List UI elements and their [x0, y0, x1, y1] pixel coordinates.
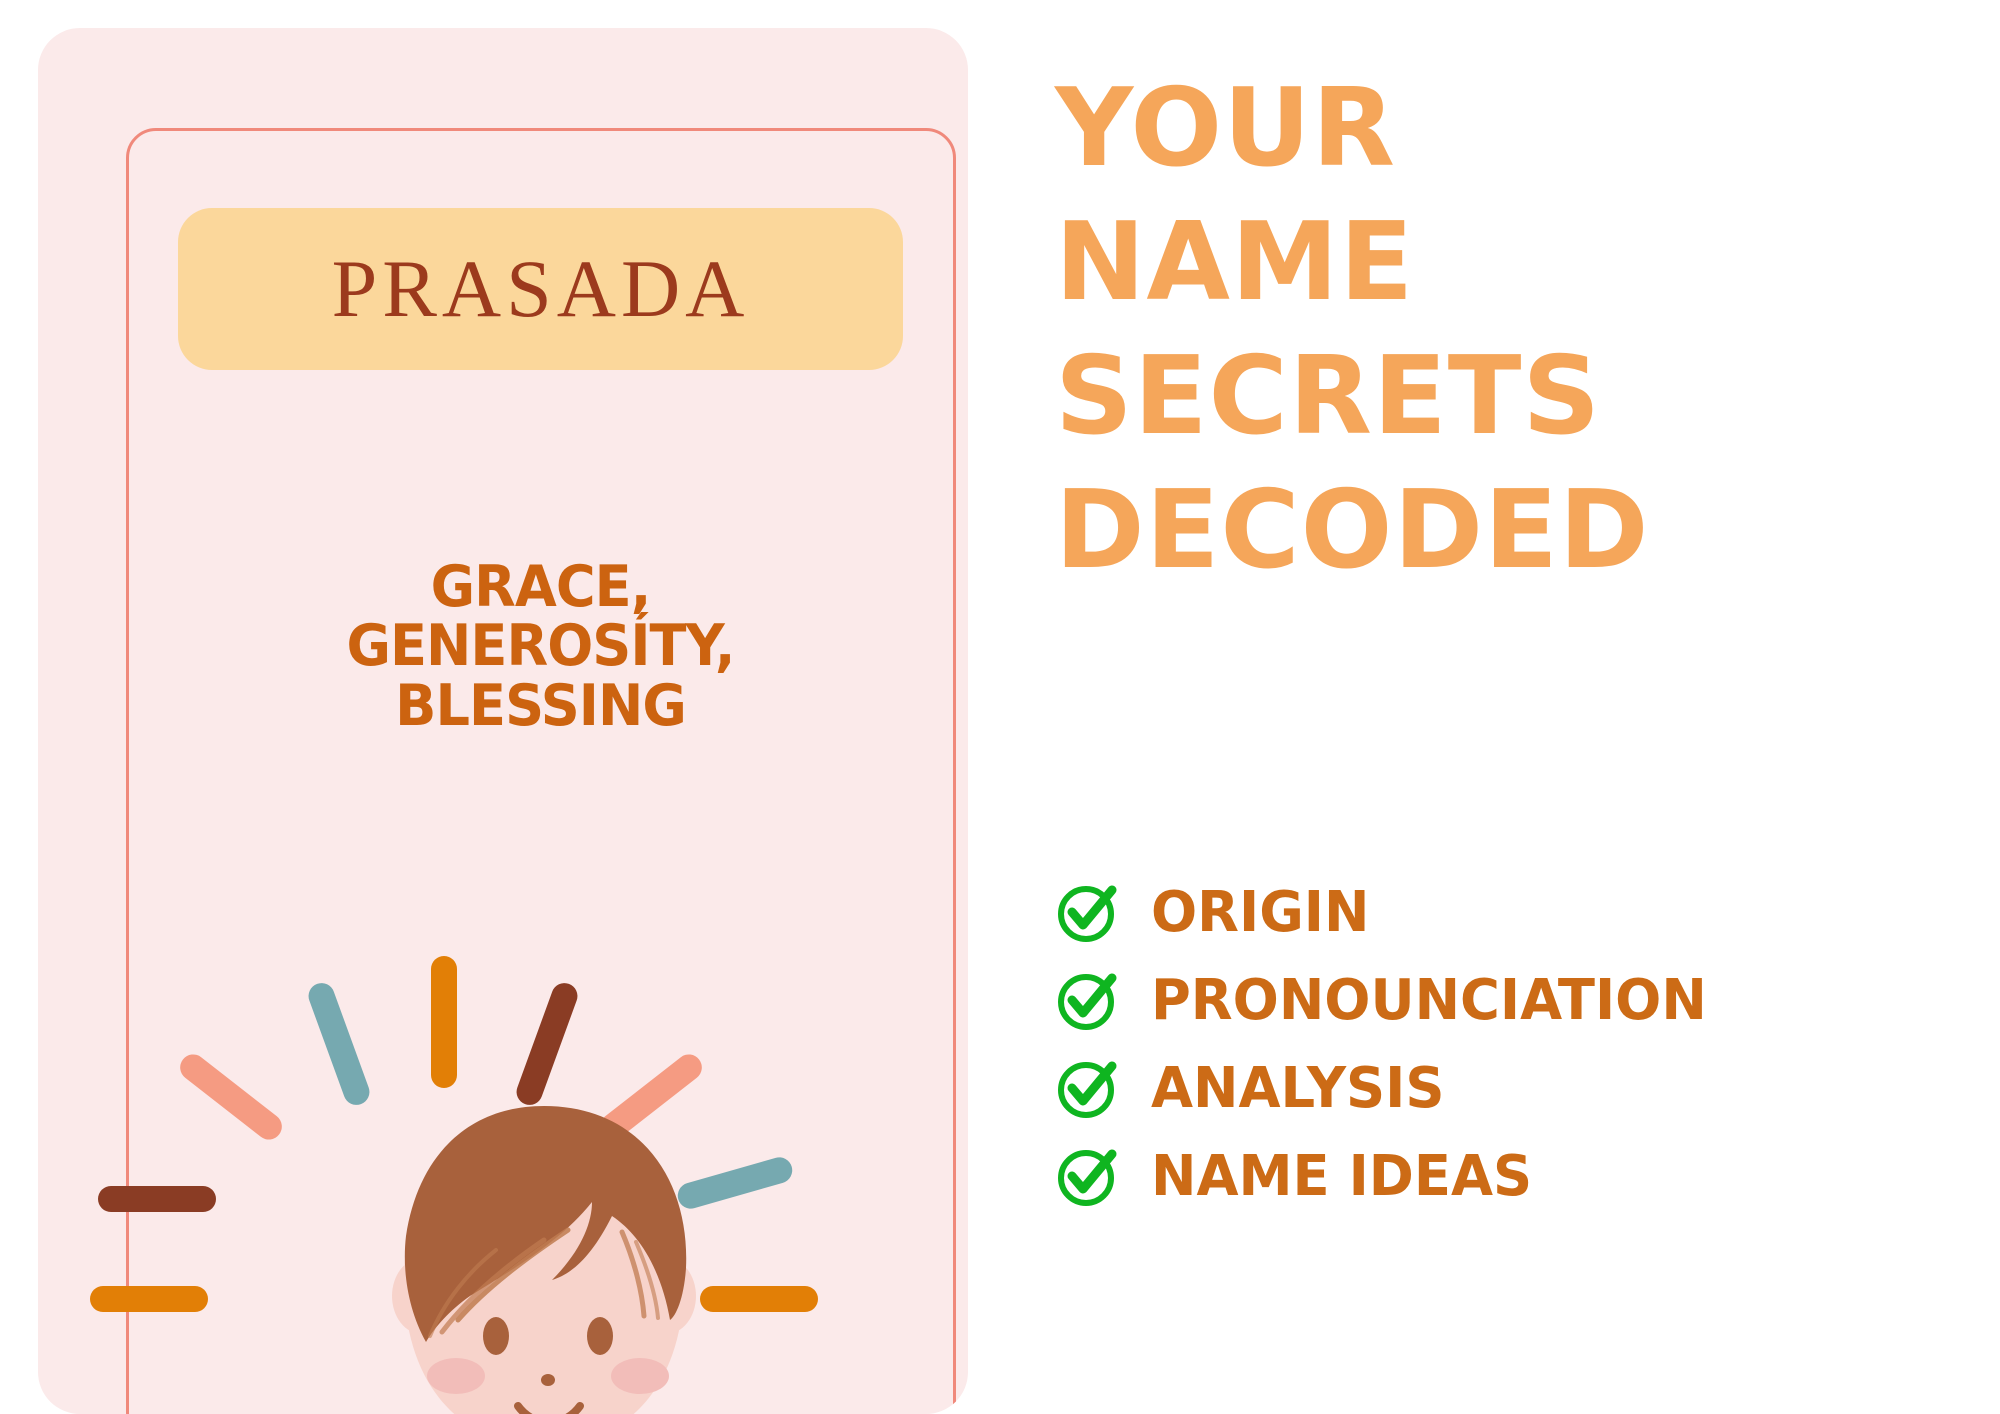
check-circle-icon [1055, 1055, 1121, 1121]
sunburst-ray [305, 979, 373, 1108]
sunburst-ray [700, 1286, 818, 1312]
sunburst-ray [431, 956, 457, 1088]
child-face-illustration [384, 1084, 704, 1414]
checklist-item-analysis[interactable]: ANALYSIS [1055, 1044, 1955, 1132]
checklist-item-label: ORIGIN [1151, 880, 1369, 945]
check-circle-icon [1055, 967, 1121, 1033]
page-title-line-4: DECODED [1055, 464, 1955, 598]
feature-checklist: ORIGIN PRONOUNCIATION ANALYSIS NAME IDEA… [1055, 868, 1955, 1220]
checklist-item-label: ANALYSIS [1151, 1056, 1444, 1121]
check-circle-icon [1055, 1143, 1121, 1209]
name-title: PRASADA [332, 248, 750, 330]
sunburst-ray [98, 1186, 216, 1212]
checklist-item-name-ideas[interactable]: NAME IDEAS [1055, 1132, 1955, 1220]
checklist-item-pronounciation[interactable]: PRONOUNCIATION [1055, 956, 1955, 1044]
child-sunburst-illustration [126, 888, 956, 1414]
page-title: YOURNAMESECRETSDECODED [1055, 62, 1955, 598]
page-title-line-1: YOUR [1055, 62, 1955, 196]
checklist-item-origin[interactable]: ORIGIN [1055, 868, 1955, 956]
checklist-item-label: PRONOUNCIATION [1151, 968, 1707, 1033]
page-title-line-2: NAME [1055, 196, 1955, 330]
page-title-line-3: SECRETS [1055, 330, 1955, 464]
name-meanings: GRACE, GENEROSÍTY, BLESSING [196, 558, 885, 736]
check-circle-icon [1055, 879, 1121, 945]
checklist-item-label: NAME IDEAS [1151, 1144, 1532, 1209]
right-panel: YOURNAMESECRETSDECODED ORIGIN PRONOUNCIA… [1040, 0, 1970, 1414]
poster-canvas: PRASADA GRACE, GENEROSÍTY, BLESSING [0, 0, 2000, 1414]
sunburst-ray [175, 1049, 287, 1145]
sunburst-ray [90, 1286, 208, 1312]
name-pill: PRASADA [178, 208, 903, 370]
name-card: PRASADA GRACE, GENEROSÍTY, BLESSING [38, 28, 968, 1414]
